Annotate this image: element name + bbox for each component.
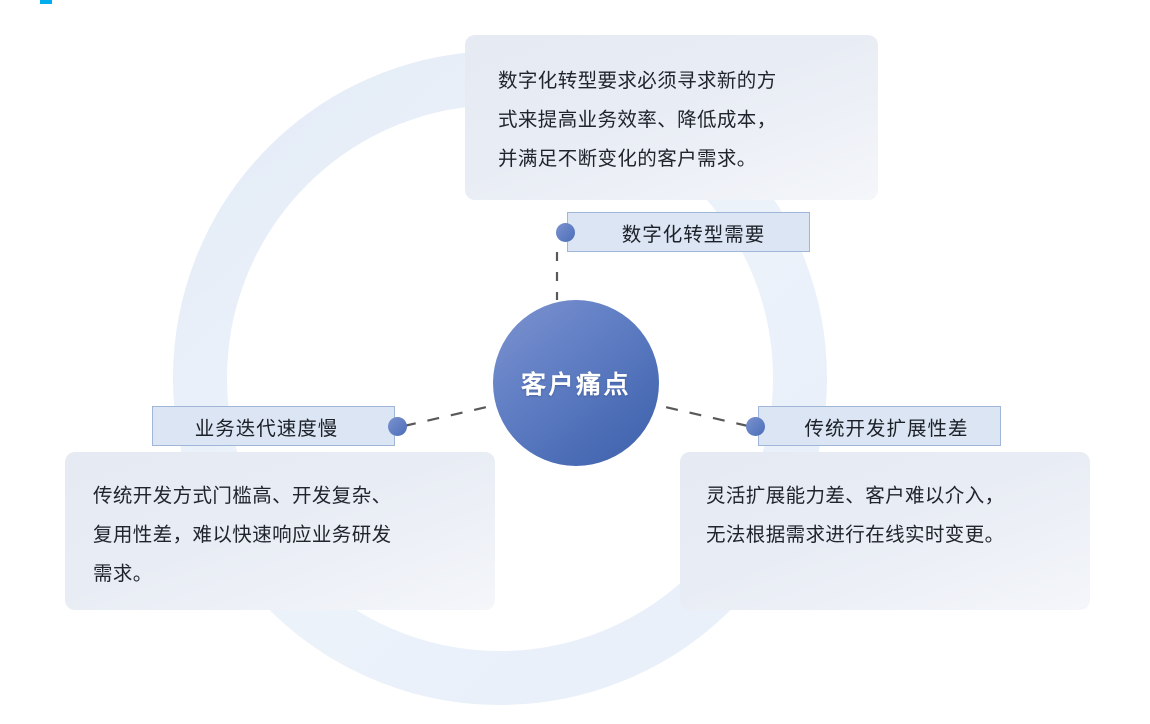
center-hub-node[interactable]: 客户痛点 bbox=[493, 300, 659, 466]
description-text-right: 灵活扩展能力差、客户难以介入， 无法根据需求进行在线实时变更。 bbox=[706, 477, 1076, 555]
top-corner-accent-sliver bbox=[40, 0, 52, 4]
branch-chip-label-left: 业务迭代速度慢 bbox=[161, 412, 372, 441]
chip-dot-icon bbox=[556, 223, 575, 242]
description-panel-top: 数字化转型要求必须寻求新的方 式来提高业务效率、降低成本， 并满足不断变化的客户… bbox=[465, 35, 878, 200]
diagram-canvas: 数字化转型要求必须寻求新的方 式来提高业务效率、降低成本， 并满足不断变化的客户… bbox=[0, 0, 1150, 724]
branch-chip-digital-transformation[interactable]: 数字化转型需要 bbox=[567, 212, 810, 252]
branch-chip-label-right: 传统开发扩展性差 bbox=[781, 412, 992, 441]
description-panel-left: 传统开发方式门槛高、开发复杂、 复用性差，难以快速响应业务研发 需求。 bbox=[65, 452, 495, 610]
description-text-left: 传统开发方式门槛高、开发复杂、 复用性差，难以快速响应业务研发 需求。 bbox=[93, 477, 483, 594]
chip-dot-icon bbox=[746, 417, 765, 436]
description-text-top: 数字化转型要求必须寻求新的方 式来提高业务效率、降低成本， 并满足不断变化的客户… bbox=[498, 62, 858, 179]
branch-chip-poor-extensibility[interactable]: 传统开发扩展性差 bbox=[758, 406, 1001, 446]
branch-chip-slow-iteration[interactable]: 业务迭代速度慢 bbox=[152, 406, 395, 446]
description-panel-right: 灵活扩展能力差、客户难以介入， 无法根据需求进行在线实时变更。 bbox=[680, 452, 1090, 610]
connector-line-left bbox=[404, 404, 500, 426]
branch-chip-label-top: 数字化转型需要 bbox=[586, 218, 801, 247]
center-hub-label: 客户痛点 bbox=[521, 365, 631, 401]
connector-line-right bbox=[652, 404, 748, 426]
chip-dot-icon bbox=[388, 417, 407, 436]
